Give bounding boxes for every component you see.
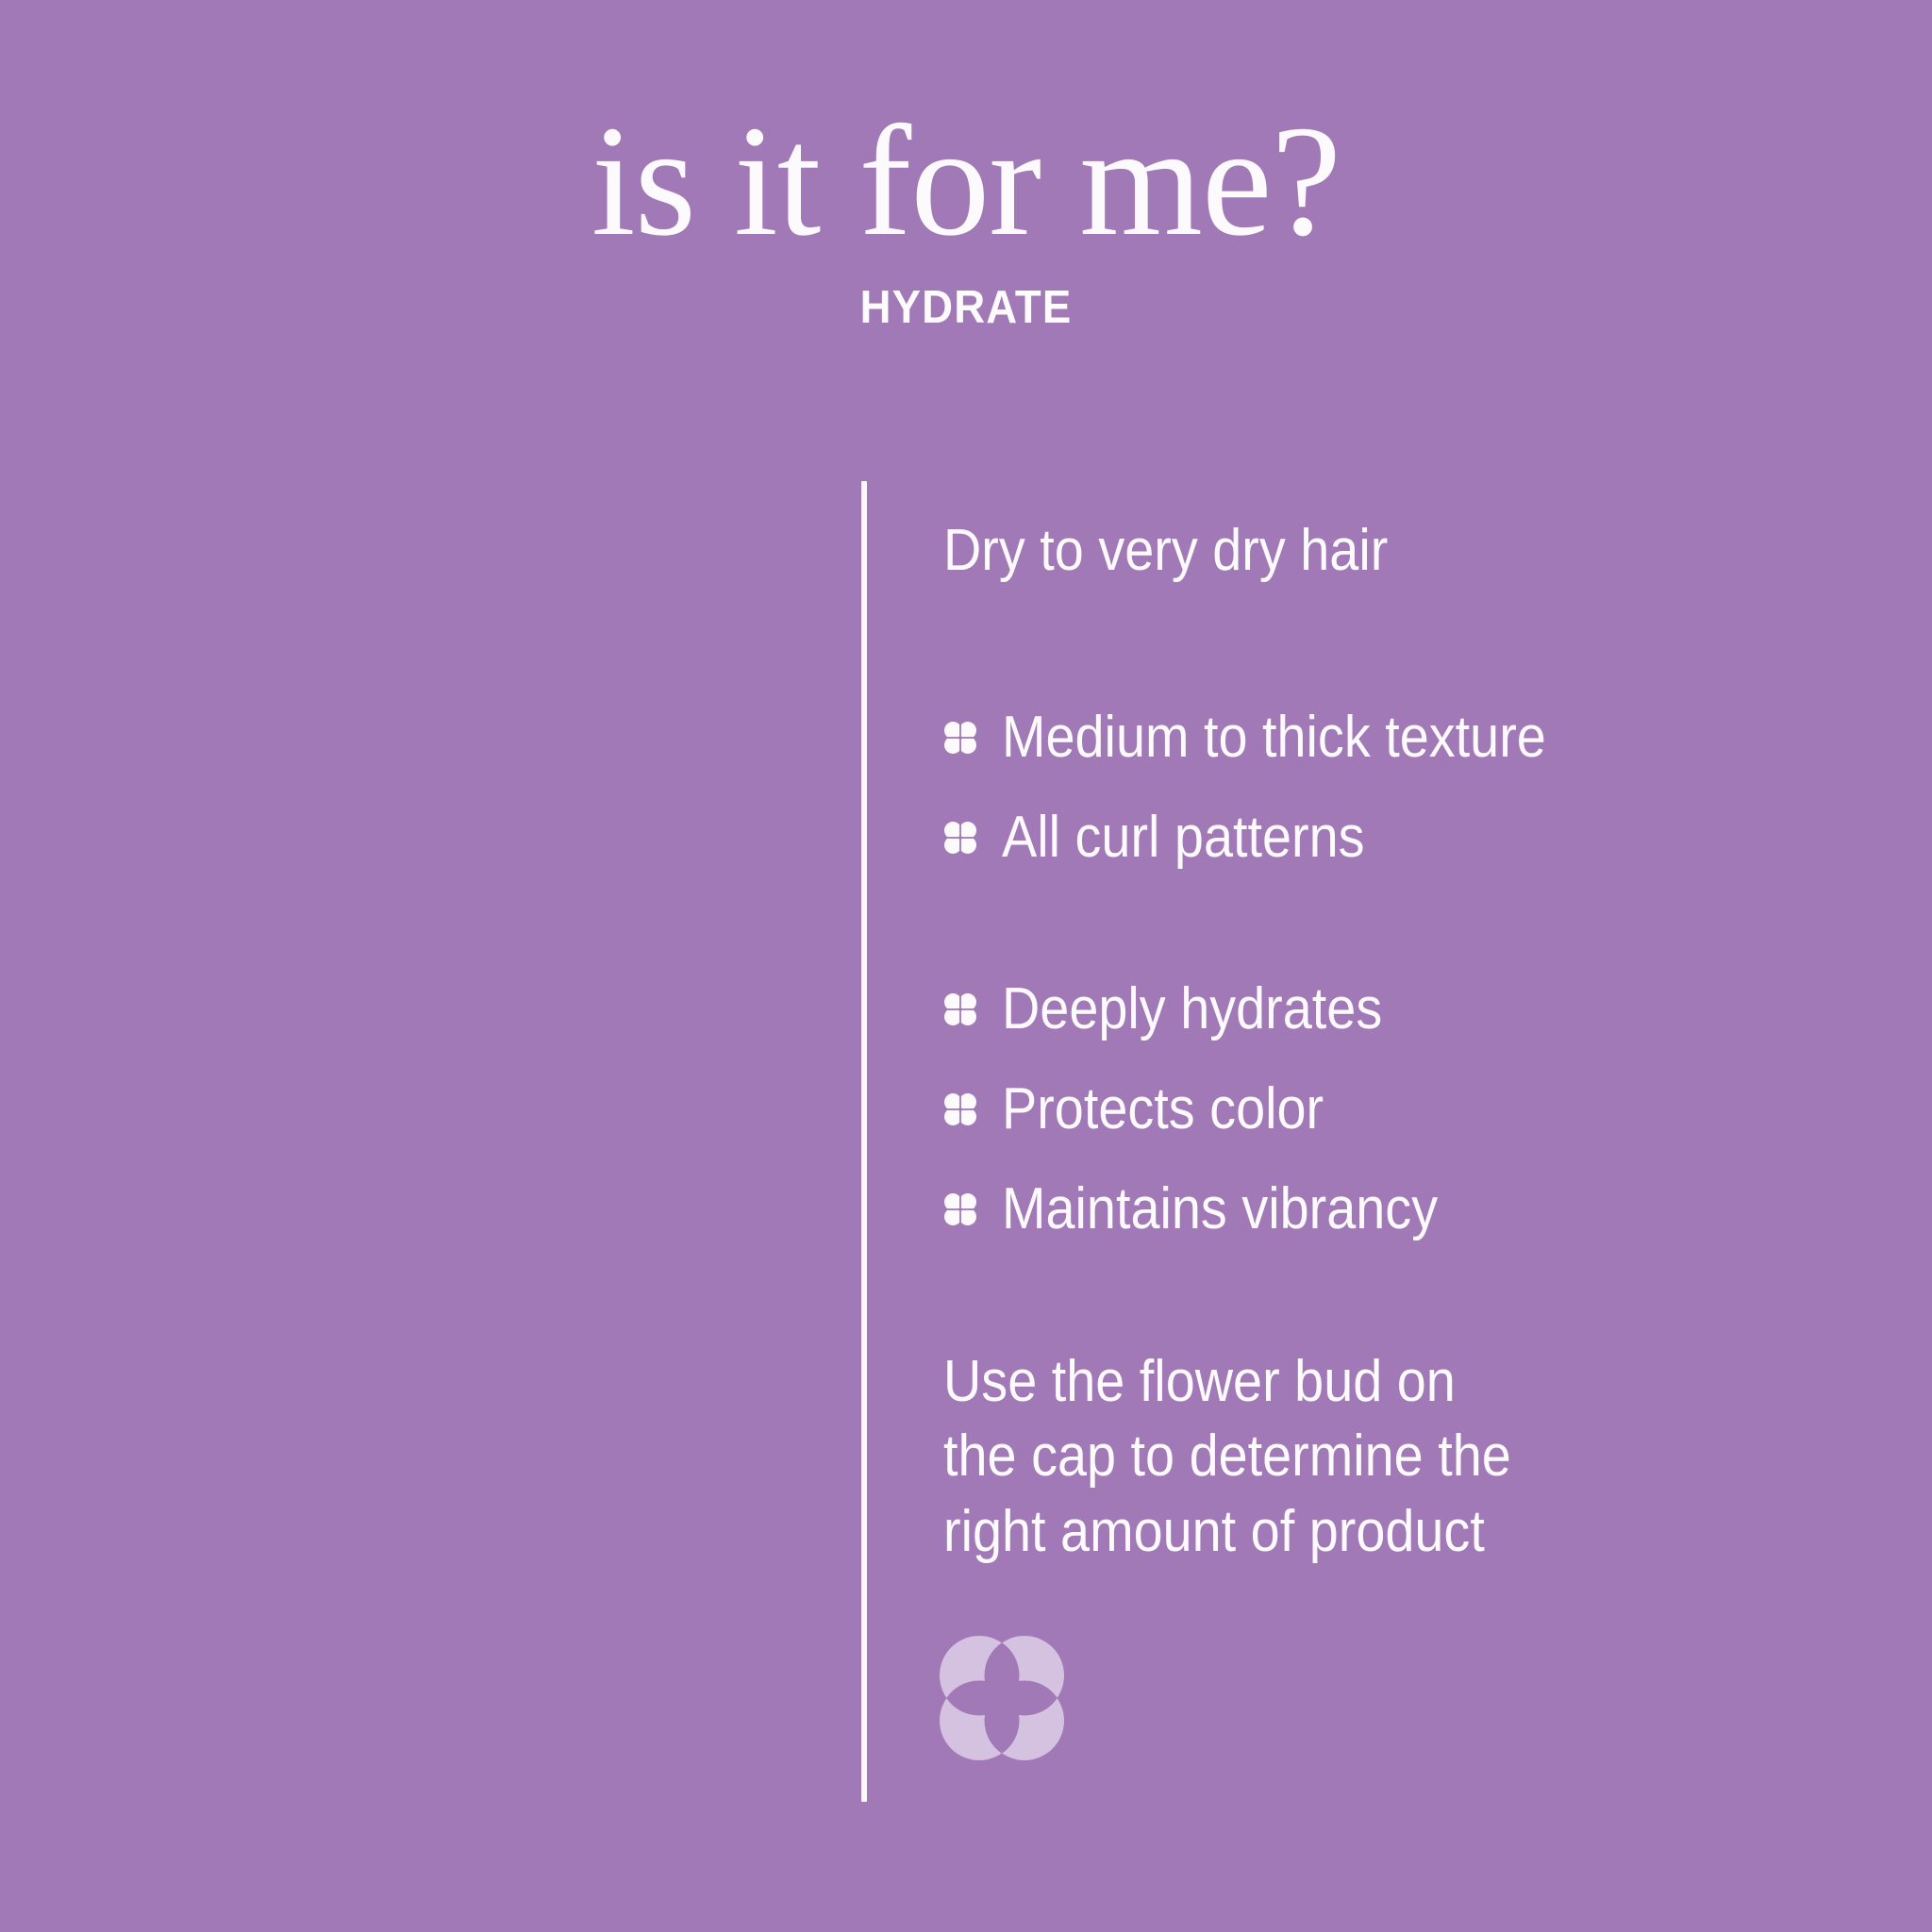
- flower-bullet-icon: [943, 1192, 977, 1226]
- application-line-1: Use the flower bud on: [943, 1344, 1920, 1419]
- list-item: Maintains vibrancy: [943, 1172, 1932, 1247]
- product-line-subtitle: HYDRATE: [68, 260, 1865, 334]
- spec-value-best-for: Dry to very dry hair: [943, 522, 1792, 580]
- column-divider: [861, 481, 867, 1802]
- flower-bullet-icon: [943, 992, 977, 1026]
- application-line-2: the cap to determine the: [943, 1419, 1920, 1493]
- card-header: is it for me? HYDRATE: [0, 102, 1932, 334]
- list-item: Deeply hydrates: [943, 972, 1932, 1047]
- flower-bullet-icon: [943, 821, 977, 855]
- list-item: All curl patterns: [943, 800, 1932, 875]
- page-title: is it for me?: [0, 102, 1932, 260]
- flower-bullet-icon: [943, 721, 977, 755]
- list-item-label: Deeply hydrates: [1002, 980, 1382, 1039]
- spec-value-hair-type-list: Medium to thick texture All curl pattern…: [943, 700, 1932, 900]
- spec-value-application: Use the flower bud on the cap to determi…: [943, 1344, 1920, 1569]
- info-card: is it for me? HYDRATE BEST FOR Dry to ve…: [0, 0, 1932, 1932]
- application-line-3: right amount of product: [943, 1494, 1920, 1569]
- list-item-label: Maintains vibrancy: [1002, 1180, 1438, 1239]
- list-item-label: Protects color: [1002, 1080, 1324, 1139]
- list-item: Protects color: [943, 1072, 1932, 1147]
- spec-value-key-benefits-list: Deeply hydrates Protects color: [943, 972, 1932, 1272]
- list-item-label: All curl patterns: [1002, 808, 1365, 867]
- list-item-label: Medium to thick texture: [1002, 708, 1546, 767]
- flower-logo-icon: [937, 1633, 1067, 1763]
- flower-bullet-icon: [943, 1092, 977, 1126]
- list-item: Medium to thick texture: [943, 700, 1932, 775]
